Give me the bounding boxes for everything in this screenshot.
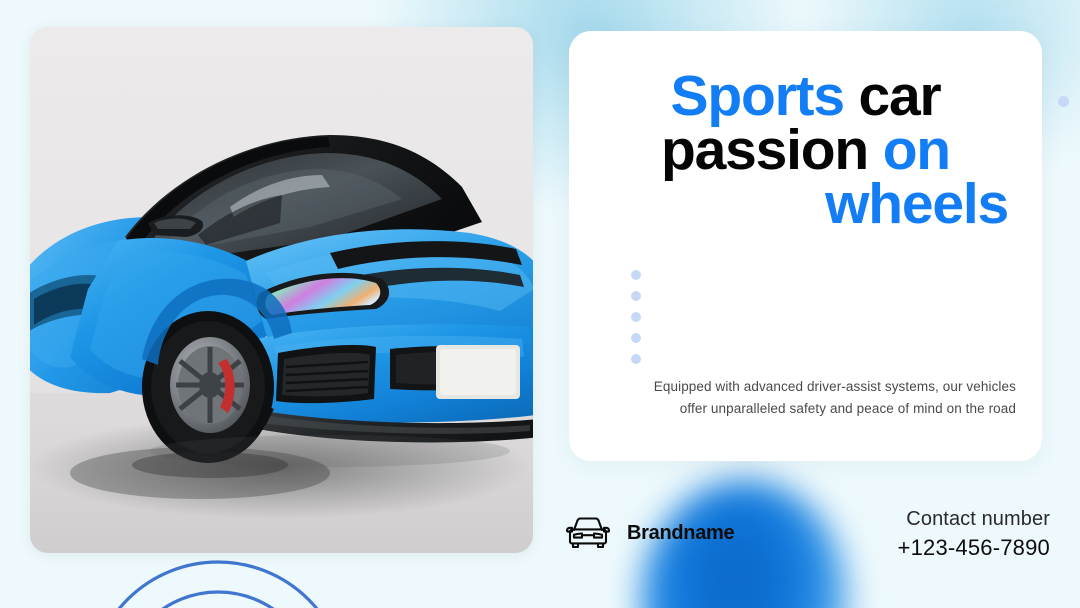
headline-line-3: wheels	[597, 177, 1014, 231]
decor-dot-3	[631, 312, 641, 322]
corner-decor-dot	[1058, 96, 1069, 107]
content-card: Sports car passion on wheels Equipped wi…	[569, 31, 1042, 461]
decor-dot-1	[631, 270, 641, 280]
brand-name: Brandname	[627, 522, 734, 545]
decor-dot-2	[631, 291, 641, 301]
body-paragraph: Equipped with advanced driver-assist sys…	[631, 376, 1016, 420]
sports-car-photo	[30, 27, 533, 553]
headline-line-1: Sports car	[597, 69, 1014, 123]
car-photo-card	[30, 27, 533, 553]
contact-label: Contact number	[898, 506, 1050, 533]
car-front-icon	[562, 513, 614, 553]
brand-lockup[interactable]: Brandname	[562, 513, 734, 553]
decor-dot-4	[631, 333, 641, 343]
headline-line-2: passion on	[597, 123, 1014, 177]
dot-column-decoration	[631, 270, 641, 375]
headline-accent-wheels: wheels	[825, 172, 1008, 236]
headline: Sports car passion on wheels	[597, 69, 1014, 231]
contact-number[interactable]: +123-456-7890	[898, 533, 1050, 563]
decor-dot-5	[631, 354, 641, 364]
contact-block[interactable]: Contact number +123-456-7890	[898, 506, 1050, 563]
